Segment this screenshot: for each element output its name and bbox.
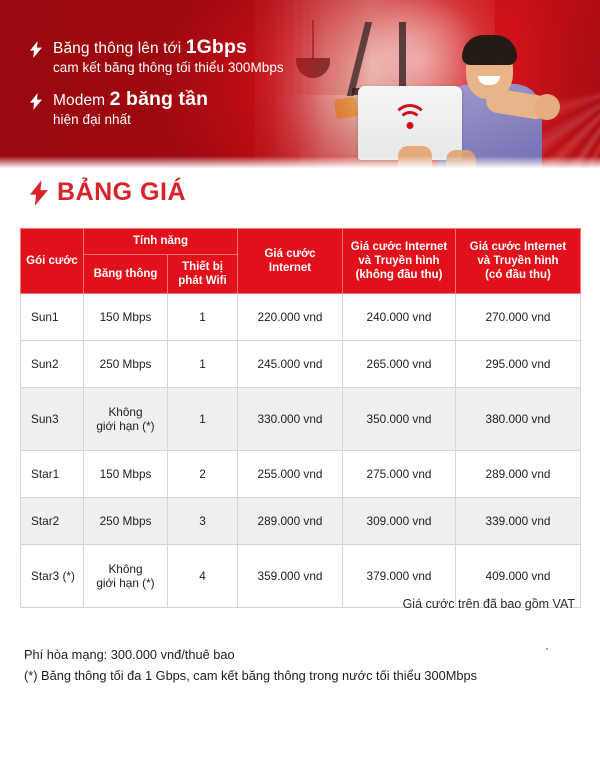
cell-bandwidth: 250 Mbps: [84, 341, 168, 388]
price-table-body: Sun1150 Mbps1220.000 vnd240.000 vnd270.0…: [21, 294, 581, 608]
cell-tv-box-price: 380.000 vnd: [456, 388, 581, 451]
page-title: BẢNG GIÁ: [30, 178, 186, 207]
th-tv-box-line3: (có đầu thu): [459, 268, 577, 282]
cell-tv-no-box-price: 350.000 vnd: [343, 388, 456, 451]
cell-tv-no-box-price: 240.000 vnd: [343, 294, 456, 341]
th-wifi-device: Thiết bị phát Wifi: [168, 255, 238, 294]
table-row: Sun2250 Mbps1245.000 vnd265.000 vnd295.0…: [21, 341, 581, 388]
cell-bandwidth: 150 Mbps: [84, 451, 168, 498]
footer-notes: Phí hòa mạng: 300.000 vnđ/thuê bao (*) B…: [24, 644, 477, 686]
person-hair: [462, 35, 517, 65]
th-wifi-device-line2: phát Wifi: [171, 274, 234, 288]
th-wifi-device-line1: Thiết bị: [171, 260, 234, 274]
cell-package: Star2: [21, 498, 84, 545]
th-internet-price-line2: Internet: [241, 261, 339, 275]
cell-tv-box-price: 289.000 vnd: [456, 451, 581, 498]
stray-dot-artifact: [546, 648, 548, 650]
cell-tv-box-price: 339.000 vnd: [456, 498, 581, 545]
banner-bullet-1-highlight: 1Gbps: [186, 36, 247, 58]
banner-bullet-1-prefix: Băng thông lên tới: [53, 40, 186, 57]
table-row: Sun3Khônggiới hạn (*)1330.000 vnd350.000…: [21, 388, 581, 451]
cell-wifi-devices: 1: [168, 341, 238, 388]
banner-bullet-list: Băng thông lên tới 1Gbps cam kết băng th…: [30, 38, 330, 142]
cell-package: Star3 (*): [21, 545, 84, 608]
cell-package: Sun3: [21, 388, 84, 451]
cell-wifi-devices: 1: [168, 388, 238, 451]
wifi-icon: [393, 104, 427, 132]
th-package: Gói cước: [21, 229, 84, 294]
table-row: Sun1150 Mbps1220.000 vnd240.000 vnd270.0…: [21, 294, 581, 341]
banner-bullet-modem: Modem 2 băng tần hiện đại nhất: [30, 90, 330, 129]
cell-tv-no-box-price: 275.000 vnd: [343, 451, 456, 498]
cell-internet-price: 289.000 vnd: [238, 498, 343, 545]
th-bandwidth: Băng thông: [84, 255, 168, 294]
price-table-head: Gói cước Tính năng Giá cước Internet Giá…: [21, 229, 581, 294]
cell-tv-no-box-price: 265.000 vnd: [343, 341, 456, 388]
cell-package: Sun2: [21, 341, 84, 388]
cell-internet-price: 220.000 vnd: [238, 294, 343, 341]
th-tv-no-box-line1: Giá cước Internet: [346, 240, 452, 254]
cell-bandwidth: Khônggiới hạn (*): [84, 388, 168, 451]
table-row: Star1150 Mbps2255.000 vnd275.000 vnd289.…: [21, 451, 581, 498]
th-internet-price: Giá cước Internet: [238, 229, 343, 294]
th-tv-box-line2: và Truyền hình: [459, 254, 577, 268]
banner-bullet-2-line1: Modem 2 băng tần: [53, 90, 208, 110]
cell-wifi-devices: 3: [168, 498, 238, 545]
cell-wifi-devices: 2: [168, 451, 238, 498]
th-internet-price-line1: Giá cước: [241, 247, 339, 261]
person-eye-left: [474, 62, 482, 65]
price-table: Gói cước Tính năng Giá cước Internet Giá…: [20, 228, 581, 608]
th-tv-box-line1: Giá cước Internet: [459, 240, 577, 254]
lightning-bolt-icon: [30, 93, 42, 110]
banner-bullet-1-line2: cam kết băng thông tối thiểu 300Mbps: [53, 58, 284, 77]
th-tv-no-box-line2: và Truyền hình: [346, 254, 452, 268]
promo-banner: Băng thông lên tới 1Gbps cam kết băng th…: [0, 0, 600, 172]
th-features-group: Tính năng: [84, 229, 238, 255]
cell-wifi-devices: 1: [168, 294, 238, 341]
th-tv-box-price: Giá cước Internet và Truyền hình (có đầu…: [456, 229, 581, 294]
banner-bottom-fade: [0, 156, 600, 172]
banner-bullet-bandwidth: Băng thông lên tới 1Gbps cam kết băng th…: [30, 38, 330, 77]
banner-bullet-2-prefix: Modem: [53, 92, 110, 109]
vat-note: Giá cước trên đã bao gồm VAT: [403, 597, 575, 611]
cell-internet-price: 330.000 vnd: [238, 388, 343, 451]
cell-wifi-devices: 4: [168, 545, 238, 608]
cell-tv-box-price: 270.000 vnd: [456, 294, 581, 341]
cell-internet-price: 245.000 vnd: [238, 341, 343, 388]
cell-package: Sun1: [21, 294, 84, 341]
cell-tv-box-price: 295.000 vnd: [456, 341, 581, 388]
person-hand-pointing: [534, 94, 560, 120]
person-eye-right: [494, 62, 502, 65]
th-tv-no-box-price: Giá cước Internet và Truyền hình (không …: [343, 229, 456, 294]
cell-internet-price: 359.000 vnd: [238, 545, 343, 608]
cell-bandwidth: 250 Mbps: [84, 498, 168, 545]
page-title-text: BẢNG GIÁ: [57, 178, 186, 207]
table-header-row-1: Gói cước Tính năng Giá cước Internet Giá…: [21, 229, 581, 255]
cell-tv-no-box-price: 309.000 vnd: [343, 498, 456, 545]
cell-bandwidth: 150 Mbps: [84, 294, 168, 341]
footer-note-bandwidth-asterisk: (*) Băng thông tối đa 1 Gbps, cam kết bă…: [24, 665, 477, 686]
cell-bandwidth: Khônggiới hạn (*): [84, 545, 168, 608]
cell-internet-price: 255.000 vnd: [238, 451, 343, 498]
lightning-bolt-icon: [30, 180, 48, 206]
footer-note-installation-fee: Phí hòa mạng: 300.000 vnđ/thuê bao: [24, 644, 477, 665]
banner-bullet-2-highlight: 2 băng tần: [110, 88, 209, 110]
banner-bullet-2-line2: hiện đại nhất: [53, 110, 208, 129]
th-tv-no-box-line3: (không đầu thu): [346, 268, 452, 282]
table-row: Star2250 Mbps3289.000 vnd309.000 vnd339.…: [21, 498, 581, 545]
cell-package: Star1: [21, 451, 84, 498]
lightning-bolt-icon: [30, 41, 42, 58]
banner-bullet-1-line1: Băng thông lên tới 1Gbps: [53, 38, 284, 58]
